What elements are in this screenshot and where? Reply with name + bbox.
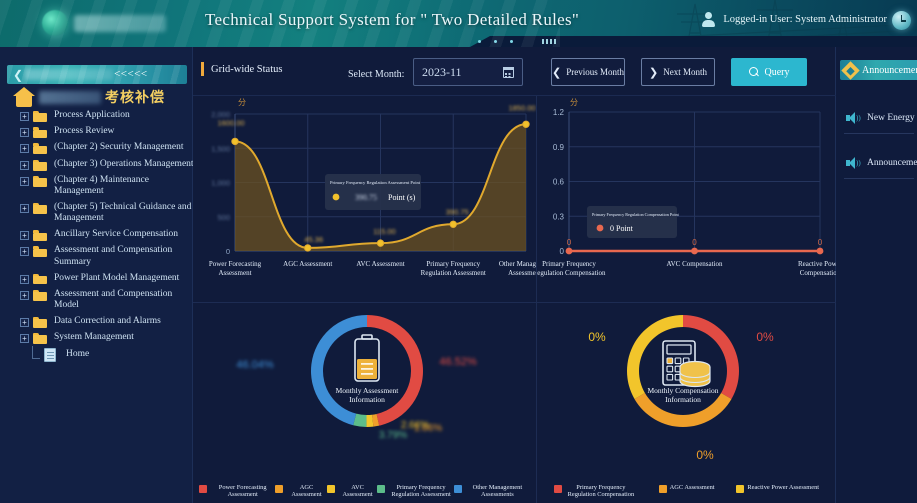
- title-accent-bar: [201, 62, 204, 76]
- svg-text:Point (s): Point (s): [388, 193, 416, 202]
- legend-label: AGC Assessment: [286, 484, 326, 499]
- app-root: Technical Support System for " Two Detai…: [0, 0, 917, 503]
- expand-icon[interactable]: +: [20, 177, 29, 186]
- svg-text:0: 0: [692, 238, 697, 247]
- announcement-divider: [844, 178, 914, 179]
- query-button[interactable]: Query: [731, 58, 807, 86]
- svg-text:Assessments: Assessments: [508, 269, 536, 277]
- logged-in-user-label: Logged-in User: System Administrator: [723, 14, 887, 25]
- sidebar-item-label: (Chapter 4) Maintenance Management: [51, 175, 195, 198]
- logged-in-user[interactable]: Logged-in User: System Administrator: [701, 12, 887, 27]
- announcement-item[interactable]: )) Announcement: [846, 150, 917, 176]
- announcement-label: Announcement: [867, 158, 917, 168]
- chevron-right-icon: ❯: [649, 66, 658, 79]
- sidebar-item-1[interactable]: +Process Review: [20, 126, 195, 138]
- legend-item[interactable]: AVC Assessment: [327, 484, 378, 499]
- folder-icon: [33, 317, 47, 328]
- legend-item[interactable]: Primary Frequency Regulation Compensatio…: [554, 484, 637, 499]
- monthly-assessment-donut: 46.52%1.66%2.66%3.79%46.04%Monthly Asses…: [193, 303, 536, 503]
- search-icon: [749, 67, 759, 77]
- svg-text:500: 500: [217, 213, 230, 222]
- legend-item[interactable]: Primary Frequency Regulation Assessment: [377, 484, 453, 499]
- folder-icon: [33, 274, 47, 285]
- app-header: Technical Support System for " Two Detai…: [0, 0, 917, 47]
- expand-icon[interactable]: +: [20, 204, 29, 213]
- svg-text:3.79%: 3.79%: [379, 430, 407, 441]
- header-bars-decoration: [542, 39, 556, 44]
- file-icon: [44, 348, 56, 362]
- expand-icon[interactable]: +: [20, 144, 29, 153]
- svg-text:Compensation: Compensation: [800, 269, 836, 277]
- expand-icon[interactable]: +: [20, 128, 29, 137]
- next-month-button[interactable]: ❯ Next Month: [641, 58, 715, 86]
- calculator-coins-icon: [663, 341, 710, 387]
- compensation-points-line-chart: 分 00.30.60.91.2000Primary FrequencyRegul…: [537, 96, 836, 302]
- svg-text:0%: 0%: [588, 330, 606, 344]
- expand-icon[interactable]: +: [20, 231, 29, 240]
- svg-text:0 Point: 0 Point: [610, 224, 634, 233]
- svg-text:0: 0: [560, 247, 565, 256]
- svg-text:AVC Assessment: AVC Assessment: [356, 260, 404, 268]
- sidebar-item-3[interactable]: +(Chapter 3) Operations Management: [20, 159, 195, 171]
- svg-text:Monthly Assessment: Monthly Assessment: [336, 386, 400, 395]
- legend-label: AVC Assessment: [338, 484, 378, 499]
- expand-icon[interactable]: +: [20, 291, 29, 300]
- svg-text:1,000: 1,000: [211, 179, 230, 188]
- svg-text:45.36: 45.36: [304, 235, 323, 244]
- legend-label: Primary Frequency Regulation Compensatio…: [565, 484, 637, 499]
- svg-text:Assessment: Assessment: [218, 269, 251, 277]
- announcement-label: New Energy: [867, 113, 915, 123]
- legend-item[interactable]: AGC Assessment: [659, 484, 715, 493]
- logo-mark: [42, 10, 68, 36]
- sidebar-item-0[interactable]: +Process Application: [20, 110, 195, 122]
- monthly-compensation-donut: 0%0%0%Monthly CompensationInformation Pr…: [537, 303, 836, 503]
- sidebar-collapse-label-redacted: [25, 69, 113, 80]
- folder-icon: [33, 176, 47, 187]
- folder-icon: [33, 160, 47, 171]
- legend-label: AGC Assessment: [670, 484, 715, 492]
- svg-text:0.9: 0.9: [553, 143, 565, 152]
- expand-icon[interactable]: +: [20, 334, 29, 343]
- logo-wordmark-redacted: [74, 15, 166, 32]
- folder-icon: [33, 143, 47, 154]
- compensation-chart-canvas: 00.30.60.91.2000Primary FrequencyRegulat…: [537, 96, 836, 302]
- sidebar: ❮ <<<<< 考核补偿 +Process Application+Proces…: [0, 47, 193, 503]
- sidebar-item-7[interactable]: +Assessment and Compensation Summary: [20, 245, 195, 268]
- svg-text:Monthly Compensation: Monthly Compensation: [647, 386, 718, 395]
- assessment-donut-canvas: 46.52%1.66%2.66%3.79%46.04%Monthly Asses…: [193, 303, 536, 468]
- sidebar-collapse-bar[interactable]: ❮ <<<<<: [7, 65, 187, 84]
- legend-label: Primary Frequency Regulation Assessment: [388, 484, 453, 499]
- legend-swatch: [659, 485, 667, 493]
- announcement-divider: [844, 133, 914, 134]
- chevron-left-icon: ❮: [552, 66, 561, 79]
- sidebar-root-prefix-redacted: [39, 91, 101, 104]
- svg-text:AGC Assessment: AGC Assessment: [283, 260, 332, 268]
- sidebar-item-9[interactable]: +Assessment and Compensation Model: [20, 289, 195, 312]
- header-accent-strip: [470, 36, 917, 47]
- speaker-icon: )): [846, 112, 860, 124]
- folder-icon: [33, 230, 47, 241]
- compensation-donut-canvas: 0%0%0%Monthly CompensationInformation: [537, 303, 836, 468]
- legend-swatch: [275, 485, 283, 493]
- expand-icon[interactable]: +: [20, 275, 29, 284]
- svg-text:390.75: 390.75: [446, 207, 469, 216]
- legend-item[interactable]: AGC Assessment: [275, 484, 326, 499]
- sidebar-item-home[interactable]: Home: [20, 348, 195, 362]
- sidebar-item-label: (Chapter 5) Technical Guidance and Manag…: [51, 202, 195, 225]
- compensation-donut-legend: Primary Frequency Regulation Compensatio…: [543, 484, 830, 499]
- announcements-header: Announcements: [840, 60, 917, 80]
- line-chart-unit: 分: [238, 97, 246, 108]
- svg-text:Regulation Compensation: Regulation Compensation: [537, 269, 606, 277]
- legend-item[interactable]: Power Forecasting Assessment: [199, 484, 275, 499]
- assessment-points-line-chart: 分 05001,0001,5002,0001600.0045.36115.003…: [193, 96, 536, 302]
- legend-item[interactable]: Reactive Power Assessment: [736, 484, 819, 493]
- header-dots-decoration: [478, 40, 513, 43]
- sidebar-item-4[interactable]: +(Chapter 4) Maintenance Management: [20, 175, 195, 198]
- compensation-chart-unit: 分: [570, 97, 578, 108]
- legend-item[interactable]: Other Management Assessments: [454, 484, 530, 499]
- panel-toolbar: Grid-wide Status Select Month: 2023-11 ❮…: [193, 47, 836, 96]
- svg-text:0.3: 0.3: [553, 212, 565, 221]
- legend-swatch: [327, 485, 335, 493]
- month-input-value[interactable]: 2023-11: [422, 65, 503, 80]
- clock-icon[interactable]: [892, 11, 911, 30]
- announcements-header-label: Announcements: [862, 65, 917, 76]
- sidebar-item-6[interactable]: +Ancillary Service Compensation: [20, 229, 195, 241]
- svg-text:0: 0: [567, 238, 572, 247]
- previous-month-label: Previous Month: [566, 67, 624, 77]
- svg-text:1850.00: 1850.00: [508, 103, 535, 112]
- folder-icon: [33, 127, 47, 138]
- sidebar-item-label: Ancillary Service Compensation: [51, 229, 178, 241]
- legend-swatch: [736, 485, 744, 493]
- svg-text:Reactive Power: Reactive Power: [798, 260, 836, 268]
- sidebar-item-label: Assessment and Compensation Summary: [51, 245, 195, 268]
- previous-month-button[interactable]: ❮ Previous Month: [551, 58, 625, 86]
- svg-text:1.2: 1.2: [553, 108, 565, 117]
- svg-text:1,500: 1,500: [211, 144, 230, 153]
- svg-text:0.6: 0.6: [553, 178, 565, 187]
- svg-text:0: 0: [226, 247, 230, 256]
- expand-icon[interactable]: +: [20, 247, 29, 256]
- sidebar-item-label: Home: [60, 348, 89, 361]
- expand-icon[interactable]: +: [20, 161, 29, 170]
- svg-text:Other Management: Other Management: [499, 260, 536, 268]
- svg-text:1600.00: 1600.00: [217, 118, 244, 127]
- announcements-panel: Announcements )) New Energy )) Announcem…: [836, 47, 917, 503]
- sidebar-item-label: Process Review: [51, 126, 114, 138]
- svg-text:0%: 0%: [696, 448, 714, 462]
- page-title: Technical Support System for " Two Detai…: [205, 10, 579, 30]
- legend-swatch: [554, 485, 562, 493]
- sidebar-root-node[interactable]: 考核补偿: [13, 87, 165, 107]
- speaker-icon: )): [846, 157, 860, 169]
- svg-text:Primary Frequency: Primary Frequency: [542, 260, 596, 268]
- folder-icon: [33, 111, 47, 122]
- sidebar-collapse-chevrons: <<<<<: [114, 69, 148, 80]
- app-logo: [42, 8, 182, 38]
- line-chart-canvas: 05001,0001,5002,0001600.0045.36115.00390…: [193, 96, 536, 302]
- sidebar-item-label: (Chapter 3) Operations Management: [51, 159, 194, 171]
- next-month-label: Next Month: [663, 67, 707, 77]
- sidebar-item-label: Power Plant Model Management: [51, 273, 179, 285]
- svg-text:0: 0: [818, 238, 823, 247]
- panel-title: Grid-wide Status: [201, 62, 282, 76]
- tree-connector: [32, 346, 40, 359]
- legend-label: Power Forecasting Assessment: [210, 484, 275, 499]
- folder-icon: [33, 203, 47, 214]
- user-icon: [701, 12, 716, 27]
- sidebar-item-10[interactable]: +Data Correction and Alarms: [20, 316, 195, 328]
- home-icon: [13, 87, 35, 107]
- svg-text:Primary Frequency Regulation A: Primary Frequency Regulation Assessment …: [330, 180, 421, 185]
- svg-text:Power Forecasting: Power Forecasting: [209, 260, 262, 268]
- sidebar-item-label: Assessment and Compensation Model: [51, 289, 195, 312]
- folder-icon: [33, 290, 47, 301]
- sidebar-root-label: 考核补偿: [105, 87, 165, 107]
- sidebar-item-label: System Management: [51, 332, 134, 344]
- svg-text:Regulation Assessment: Regulation Assessment: [421, 269, 486, 277]
- announcement-item[interactable]: )) New Energy: [846, 105, 917, 131]
- svg-text:115.00: 115.00: [373, 227, 395, 236]
- sidebar-item-label: (Chapter 2) Security Management: [51, 142, 184, 154]
- diamond-icon: [841, 61, 859, 79]
- svg-text:AVC Compensation: AVC Compensation: [666, 260, 723, 268]
- panel-title-label: Grid-wide Status: [211, 64, 282, 75]
- battery-icon: [355, 335, 379, 381]
- expand-icon[interactable]: +: [20, 318, 29, 327]
- sidebar-tree: +Process Application+Process Review+(Cha…: [20, 110, 195, 366]
- sidebar-item-label: Process Application: [51, 110, 130, 122]
- svg-text:46.52%: 46.52%: [439, 356, 477, 368]
- sidebar-item-2[interactable]: +(Chapter 2) Security Management: [20, 142, 195, 154]
- legend-swatch: [377, 485, 385, 493]
- query-label: Query: [765, 67, 790, 78]
- folder-icon: [33, 246, 47, 257]
- legend-label: Reactive Power Assessment: [747, 484, 819, 492]
- svg-text:Information: Information: [665, 395, 701, 404]
- svg-text:390.75: 390.75: [355, 193, 377, 202]
- sidebar-item-label: Data Correction and Alarms: [51, 316, 161, 328]
- svg-text:Primary Frequency: Primary Frequency: [426, 260, 480, 268]
- legend-label: Other Management Assessments: [465, 484, 530, 499]
- sidebar-item-11[interactable]: +System Management: [20, 332, 195, 344]
- month-picker[interactable]: 2023-11: [413, 58, 523, 86]
- assessment-donut-legend: Power Forecasting AssessmentAGC Assessme…: [199, 484, 530, 499]
- svg-text:Information: Information: [349, 395, 385, 404]
- calendar-icon[interactable]: [503, 67, 514, 78]
- svg-text:46.04%: 46.04%: [236, 359, 274, 371]
- chevron-left-icon: ❮: [13, 69, 23, 81]
- legend-swatch: [454, 485, 462, 493]
- svg-text:0%: 0%: [756, 330, 774, 344]
- select-month-label: Select Month:: [348, 69, 404, 80]
- legend-swatch: [199, 485, 207, 493]
- expand-icon[interactable]: +: [20, 112, 29, 121]
- svg-text:Primary Frequency Regulation C: Primary Frequency Regulation Compensatio…: [592, 212, 680, 217]
- main-panel: Grid-wide Status Select Month: 2023-11 ❮…: [193, 47, 836, 503]
- folder-icon: [33, 333, 47, 344]
- sidebar-item-8[interactable]: +Power Plant Model Management: [20, 273, 195, 285]
- sidebar-item-5[interactable]: +(Chapter 5) Technical Guidance and Mana…: [20, 202, 195, 225]
